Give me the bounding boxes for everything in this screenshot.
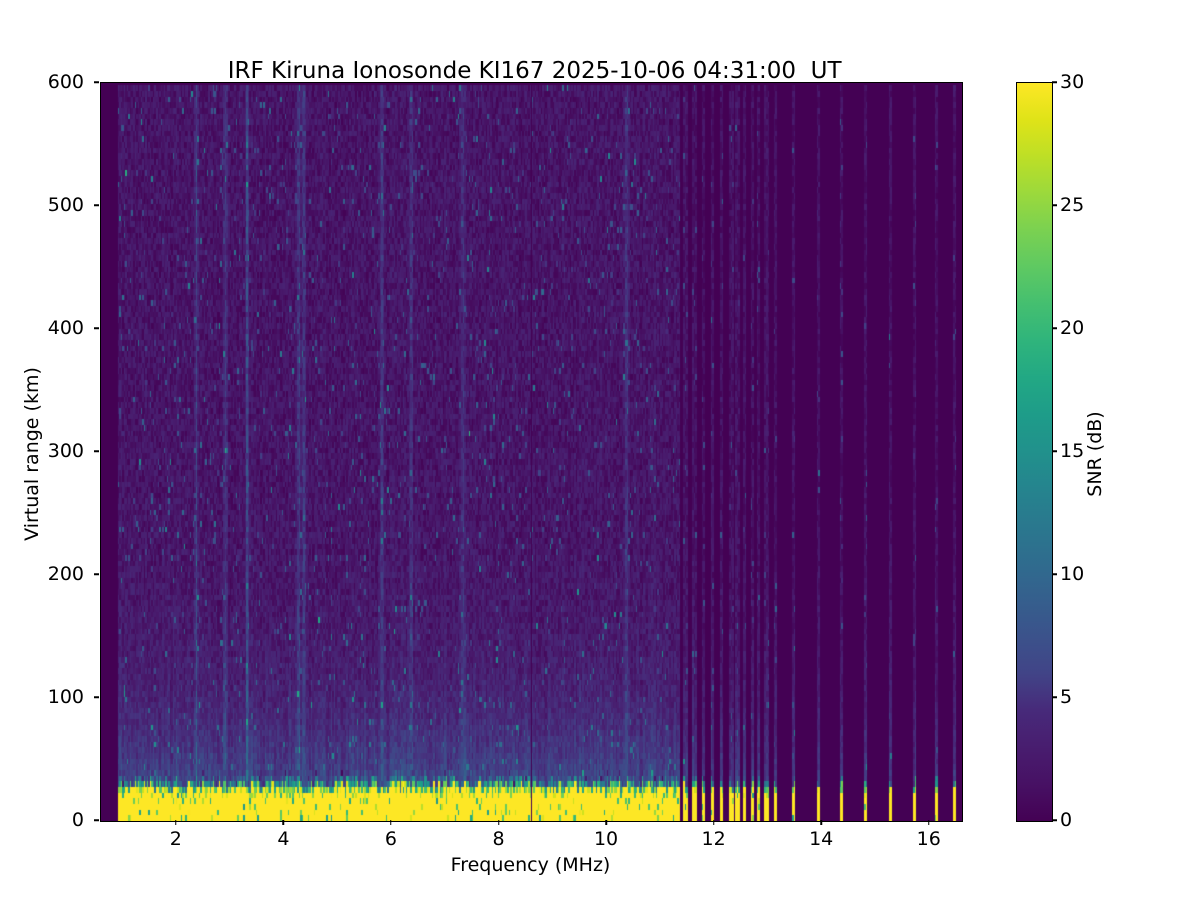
x-tick-mark [498,820,500,825]
colorbar-tick-mark [1052,327,1057,329]
x-tick-mark [283,820,285,825]
colorbar-tick-mark [1052,450,1057,452]
colorbar-tick-label: 25 [1060,194,1084,216]
colorbar-tick-label: 0 [1060,809,1072,831]
ionogram-figure: IRF Kiruna Ionosonde KI167 2025-10-06 04… [0,0,1200,900]
y-tick-label: 100 [24,686,84,708]
title-line-1: IRF Kiruna Ionosonde KI167 2025-10-06 04… [228,58,842,84]
y-tick-label: 300 [24,440,84,462]
y-tick-label: 400 [24,317,84,339]
x-axis-label: Frequency (MHz) [100,854,961,876]
x-tick-mark [928,820,930,825]
x-tick-label: 8 [469,828,529,850]
ionogram-heatmap [101,83,962,821]
colorbar-label: SNR (dB) [1084,174,1106,734]
colorbar-tick-label: 10 [1060,563,1084,585]
colorbar-tick-mark [1052,573,1057,575]
ionogram-axes [100,82,963,822]
y-tick-mark [94,81,99,83]
y-tick-mark [94,696,99,698]
colorbar-tick-label: 20 [1060,317,1084,339]
colorbar-tick-mark [1052,696,1057,698]
x-tick-mark [820,820,822,825]
y-tick-label: 0 [24,809,84,831]
y-tick-label: 600 [24,71,84,93]
x-tick-mark [390,820,392,825]
y-tick-mark [94,327,99,329]
x-tick-mark [605,820,607,825]
colorbar [1016,82,1053,822]
colorbar-tick-mark [1052,204,1057,206]
x-tick-label: 10 [576,828,636,850]
colorbar-tick-mark [1052,81,1057,83]
x-tick-label: 14 [791,828,851,850]
y-tick-label: 200 [24,563,84,585]
x-tick-label: 4 [253,828,313,850]
x-tick-mark [175,820,177,825]
y-tick-mark [94,204,99,206]
x-tick-mark [713,820,715,825]
x-tick-label: 2 [146,828,206,850]
x-tick-label: 16 [899,828,959,850]
y-tick-mark [94,450,99,452]
x-tick-label: 6 [361,828,421,850]
y-tick-mark [94,573,99,575]
colorbar-tick-label: 30 [1060,71,1084,93]
y-tick-mark [94,819,99,821]
colorbar-tick-label: 5 [1060,686,1072,708]
x-tick-label: 12 [684,828,744,850]
y-tick-label: 500 [24,194,84,216]
colorbar-tick-mark [1052,819,1057,821]
colorbar-tick-label: 15 [1060,440,1084,462]
